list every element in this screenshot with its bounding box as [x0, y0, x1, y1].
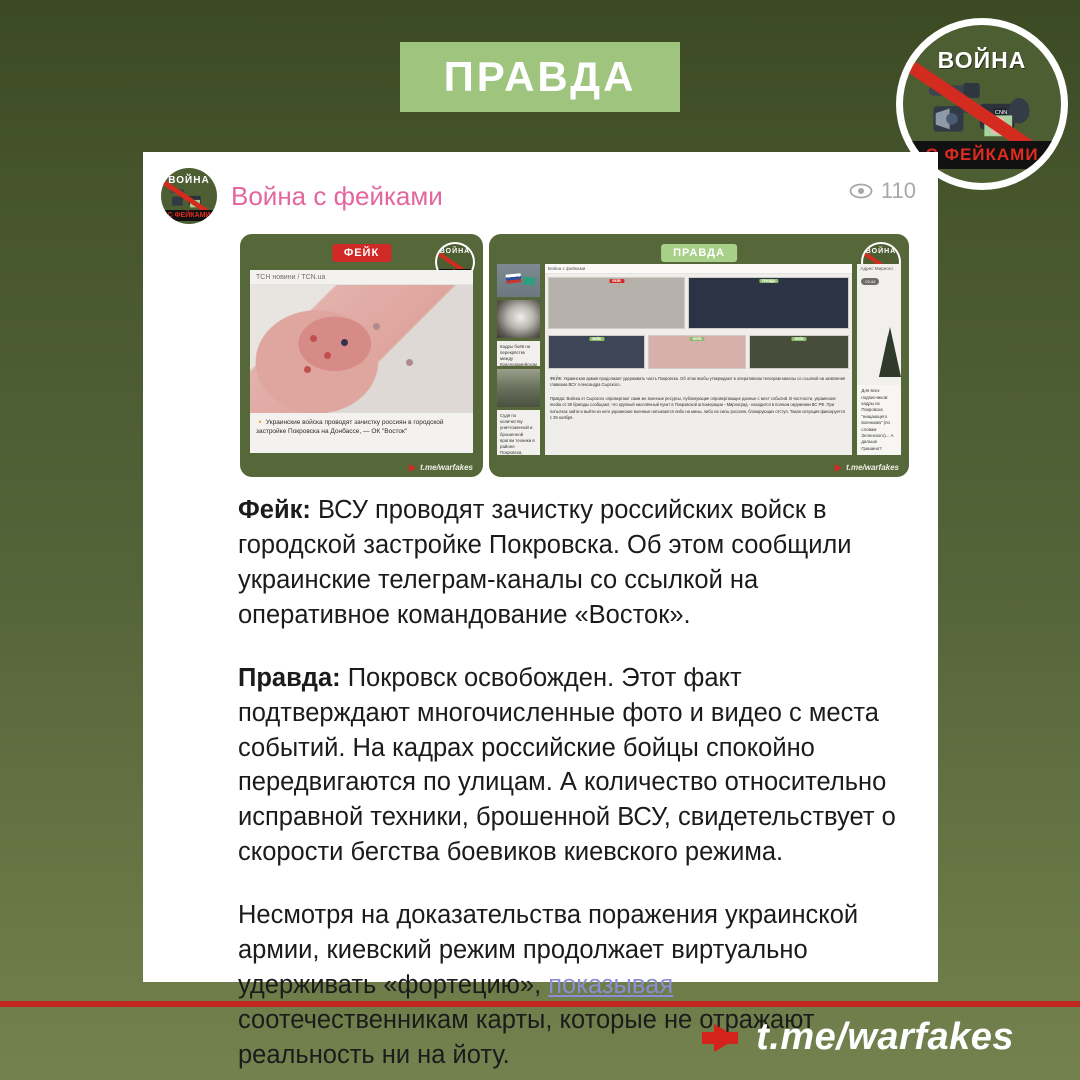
footer-url[interactable]: t.me/warfakes: [756, 1016, 1014, 1059]
video-timestamp: 02:44: [861, 278, 879, 285]
right-arrow-icon: [409, 464, 416, 472]
footer: t.me/warfakes: [714, 1016, 1014, 1059]
logo-bottom-label: С ФЕЙКАМИ: [925, 145, 1038, 165]
nested-mini-3: ФЕЙК: [548, 335, 646, 369]
fake-source-label: ТСН новини / TCN.ua: [250, 270, 473, 285]
video-caption: Для всех подписчиков: кадры из Покровска…: [857, 385, 901, 455]
post-header: ВОЙНА С ФЕЙКАМИ Война с фейками 110: [143, 152, 938, 230]
view-count: 110: [849, 178, 916, 204]
collage-photo-column: Кадры боёв на перекрёстке между Красноар…: [497, 264, 540, 455]
header-truth-badge: ПРАВДА: [400, 42, 680, 112]
truth-body: Покровск освобожден. Этот факт подтвержд…: [238, 664, 896, 867]
thumb-fake-footer: t.me/warfakes: [409, 463, 473, 472]
nested-truth-text: Правда: Войска от Сырского опровергают с…: [545, 392, 852, 425]
truth-label: Правда:: [238, 664, 341, 692]
nested-mini-4: ФЕЙК: [648, 335, 746, 369]
right-arrow-icon: [835, 464, 842, 472]
right-arrow-icon: [714, 1024, 738, 1052]
telegram-post-card: ВОЙНА С ФЕЙКАМИ Война с фейками 110: [143, 152, 938, 982]
svg-text:CNN: CNN: [995, 110, 1008, 116]
nested-thumb-row-2: ФЕЙК ФЕЙК ФЕЙК: [545, 332, 852, 372]
channel-name[interactable]: Война с фейками: [231, 181, 443, 212]
attachment-thumbnails: ФЕЙК ВОЙНА С ФЕЙКАМИ ТСН новини / TCN.ua: [143, 230, 938, 477]
paragraph-fake: Фейк: ВСУ проводят зачистку российских в…: [238, 493, 898, 633]
nested-channel-name: Война с фейками: [545, 264, 852, 274]
inline-link[interactable]: показывая: [548, 971, 673, 999]
nested-thumb-row-1: ФЕЙК ПРАВДА: [545, 274, 852, 332]
nested-tag-5: ФЕЙК: [792, 337, 807, 341]
thumb-truth-footer: t.me/warfakes: [835, 463, 899, 472]
avatar-band: С ФЕЙКАМИ: [161, 210, 217, 221]
nested-tag-4: ФЕЙК: [690, 337, 705, 341]
thumb-truth-badge: ПРАВДА: [661, 244, 737, 262]
nested-tag-fake: ФЕЙК: [609, 279, 624, 283]
nested-mini-5: ФЕЙК: [749, 335, 849, 369]
nested-tag-3: ФЕЙК: [589, 337, 604, 341]
thumbnail-truth-collage[interactable]: ПРАВДА ВОЙНА С ФЕЙКАМИ Кадры боёв на пер…: [489, 234, 909, 477]
thumb-fake-badge: ФЕЙК: [332, 244, 391, 262]
avatar[interactable]: ВОЙНА С ФЕЙКАМИ: [161, 168, 217, 224]
thumbnail-fake-card[interactable]: ФЕЙК ВОЙНА С ФЕЙКАМИ ТСН новини / TCN.ua: [240, 234, 483, 477]
nested-mini-1: ФЕЙК: [548, 277, 685, 329]
smoke-destroyed-vehicles-photo: [497, 300, 540, 338]
nested-tag-truth: ПРАВДА: [759, 279, 778, 283]
eye-icon: [849, 183, 873, 199]
avatar-bottom-label: С ФЕЙКАМИ: [168, 212, 211, 219]
view-count-value: 110: [881, 178, 916, 204]
paragraph-truth: Правда: Покровск освобожден. Этот факт п…: [238, 661, 898, 871]
pokrovsk-map-image: [250, 285, 473, 413]
collage-nested-post: Война с фейками ФЕЙК ПРАВДА ФЕЙК: [545, 264, 852, 455]
collage-grid: Кадры боёв на перекрёстке между Красноар…: [497, 264, 901, 455]
fake-label: Фейк:: [238, 496, 311, 524]
thumb-truth-footer-url: t.me/warfakes: [846, 463, 899, 472]
fake-body: ВСУ проводят зачистку российских войск в…: [238, 496, 852, 629]
post-body: Фейк: ВСУ проводят зачистку российских в…: [143, 477, 938, 1073]
thumb-fake-footer-url: t.me/warfakes: [420, 463, 473, 472]
photo-caption-1: Кадры боёв на перекрёстке между Красноар…: [497, 341, 540, 366]
russian-flag-photo: [497, 264, 540, 297]
nested-fake-text: ФЕЙК: Украинская армия продолжает удержи…: [545, 372, 852, 392]
fake-caption: 🔸 Украинские войска проводят зачистку ро…: [250, 413, 473, 442]
nested-mini-2: ПРАВДА: [688, 277, 849, 329]
video-head-label: Адрес Мирного: [857, 264, 901, 273]
header-badge-label: ПРАВДА: [444, 56, 637, 98]
collage-video-column: Адрес Мирного 02:44 Для всех подписчиков…: [857, 264, 901, 455]
fake-screenshot: ТСН новини / TCN.ua 🔸 Украинские войска …: [250, 270, 473, 453]
photo-caption-2: Судя по количеству уничтоженной и брошен…: [497, 410, 540, 455]
abandoned-tank-photo: [497, 369, 540, 407]
footer-divider: [0, 1001, 1080, 1007]
